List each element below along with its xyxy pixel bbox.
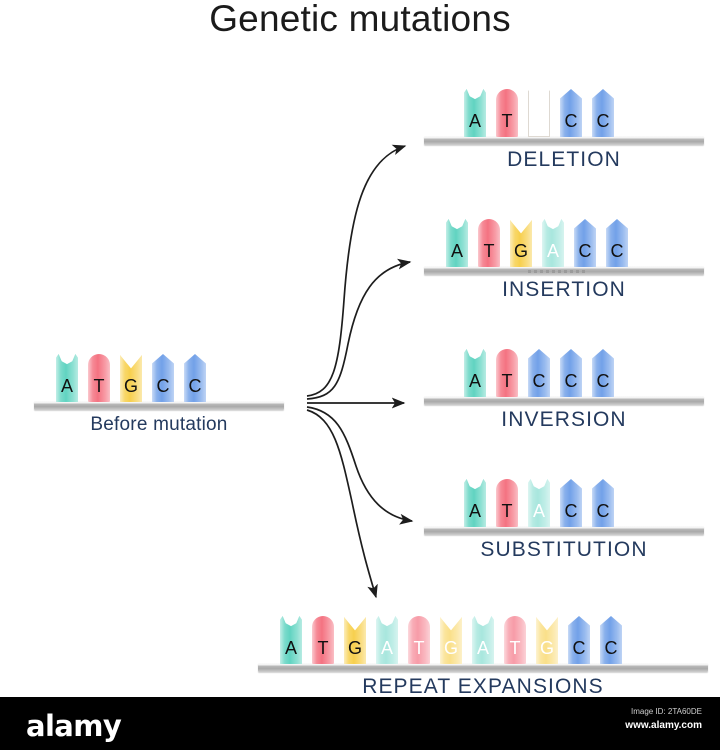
base-letter: A: [528, 502, 550, 520]
base-letter: A: [542, 242, 564, 260]
base-letter: T: [312, 639, 334, 657]
base-letter: A: [464, 372, 486, 390]
base-letter: T: [478, 242, 500, 260]
base-letter: T: [496, 112, 518, 130]
base-letter: A: [56, 377, 78, 395]
base-letter: C: [560, 372, 582, 390]
alamy-watermark-bar: alamy Image ID: 2TA60DE www.alamy.com: [0, 697, 720, 750]
base-letter: T: [504, 639, 526, 657]
arrow-to-substitution: [307, 407, 412, 521]
base-letter: G: [440, 639, 462, 657]
base-letter: C: [152, 377, 174, 395]
base-letter: C: [574, 242, 596, 260]
base-letter: C: [592, 502, 614, 520]
base-letter: C: [568, 639, 590, 657]
alamy-url-label: www.alamy.com: [625, 720, 702, 731]
base-letter: A: [446, 242, 468, 260]
base-letter: T: [496, 372, 518, 390]
base-letter: A: [376, 639, 398, 657]
base-letter: C: [560, 502, 582, 520]
arrow-to-deletion: [307, 146, 405, 396]
base-letter: A: [280, 639, 302, 657]
base-letter: G: [344, 639, 366, 657]
base-letter: G: [536, 639, 558, 657]
base-letter: C: [592, 372, 614, 390]
base-letter: T: [408, 639, 430, 657]
base-letter: C: [184, 377, 206, 395]
arrow-to-repeats: [307, 410, 376, 597]
base-letter: A: [464, 502, 486, 520]
base-letter: C: [592, 112, 614, 130]
image-id-label: Image ID: 2TA60DE: [631, 707, 702, 716]
arrow-group: [0, 0, 720, 700]
arrow-to-insertion: [307, 262, 410, 399]
base-letter: G: [510, 242, 532, 260]
base-letter: C: [606, 242, 628, 260]
base-letter: A: [464, 112, 486, 130]
base-letter: T: [496, 502, 518, 520]
base-letter: G: [120, 377, 142, 395]
base-letter: C: [560, 112, 582, 130]
base-letter: C: [600, 639, 622, 657]
base-letter: A: [472, 639, 494, 657]
diagram-canvas: Genetic mutations ATGCC Before mutation …: [0, 0, 720, 750]
base-letter: C: [528, 372, 550, 390]
alamy-logo: alamy: [26, 709, 121, 743]
base-letter: T: [88, 377, 110, 395]
